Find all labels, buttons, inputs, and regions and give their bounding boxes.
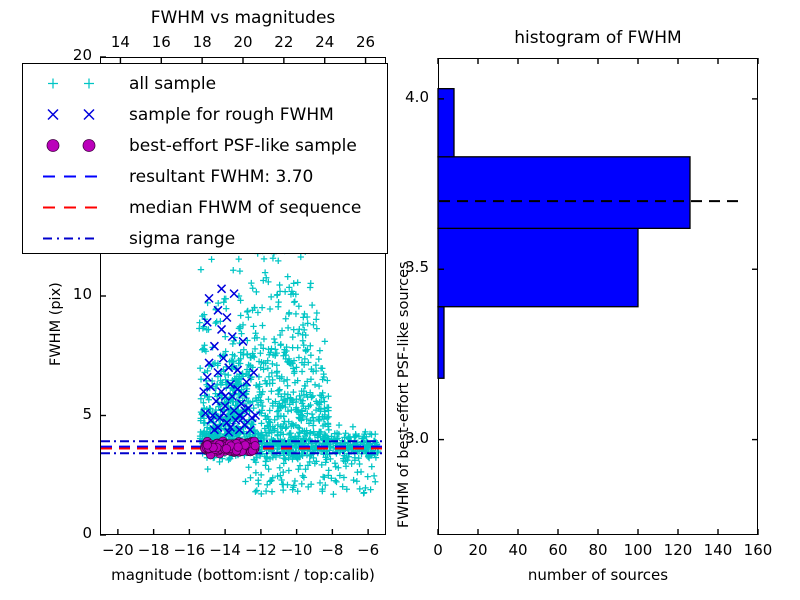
legend-label-4: median FHWM of sequence xyxy=(129,198,361,218)
right-xlabel: number of sources xyxy=(438,566,758,584)
figure-canvas: FWHM vs magnitudes −20−18−16−14−12−10−8−… xyxy=(0,0,800,600)
right-ytick-2: 4.0 xyxy=(405,88,429,106)
legend-label-0: all sample xyxy=(129,74,216,94)
legend-marker-dashdot-icon xyxy=(33,223,129,254)
legend-marker-dashed-icon xyxy=(33,192,129,223)
legend-item-2: best-effort PSF-like sample xyxy=(33,130,387,161)
right-xtick-3: 60 xyxy=(548,541,567,559)
legend-item-0: all sample xyxy=(33,68,387,99)
right-ylabel: FWHM of best-effort PSF-like sources xyxy=(396,261,412,528)
legend-item-3: resultant FWHM: 3.70 xyxy=(33,161,387,192)
right-xtick-7: 140 xyxy=(704,541,733,559)
right-xtick-8: 160 xyxy=(744,541,773,559)
right-xtick-1: 20 xyxy=(468,541,487,559)
right-xtick-4: 80 xyxy=(588,541,607,559)
legend-label-3: resultant FWHM: 3.70 xyxy=(129,167,313,187)
right-xtick-0: 0 xyxy=(433,541,443,559)
right-xtick-5: 100 xyxy=(624,541,653,559)
legend: all samplesample for rough FWHMbest-effo… xyxy=(22,63,388,254)
legend-marker-dashed-icon xyxy=(33,161,129,192)
legend-item-4: median FHWM of sequence xyxy=(33,192,387,223)
legend-label-2: best-effort PSF-like sample xyxy=(129,136,357,156)
legend-item-5: sigma range xyxy=(33,223,387,254)
legend-marker-plus-icon xyxy=(33,68,129,99)
legend-label-1: sample for rough FWHM xyxy=(129,105,334,125)
right-xtick-2: 40 xyxy=(508,541,527,559)
legend-marker-dot-icon xyxy=(33,130,129,161)
legend-label-5: sigma range xyxy=(129,229,235,249)
legend-item-1: sample for rough FWHM xyxy=(33,99,387,130)
right-xtick-6: 120 xyxy=(664,541,693,559)
legend-marker-cross-icon xyxy=(33,99,129,130)
